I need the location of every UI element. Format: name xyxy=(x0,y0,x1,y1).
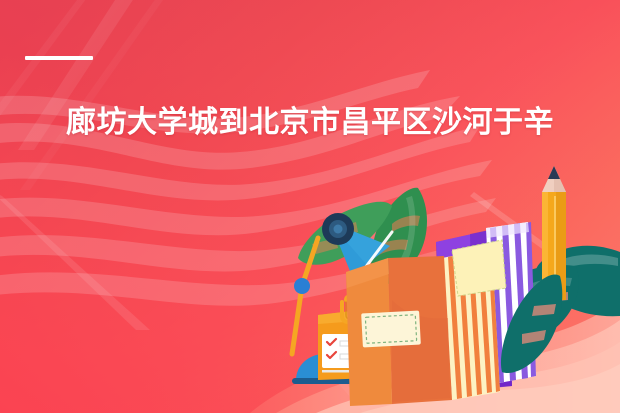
stationery-illustration xyxy=(0,0,620,413)
orange-notebook xyxy=(346,256,452,406)
promo-banner: 廊坊大学城到北京市昌平区沙河于辛 xyxy=(0,0,620,413)
lamp-pivot xyxy=(294,278,310,294)
illustration-layer xyxy=(0,0,620,413)
